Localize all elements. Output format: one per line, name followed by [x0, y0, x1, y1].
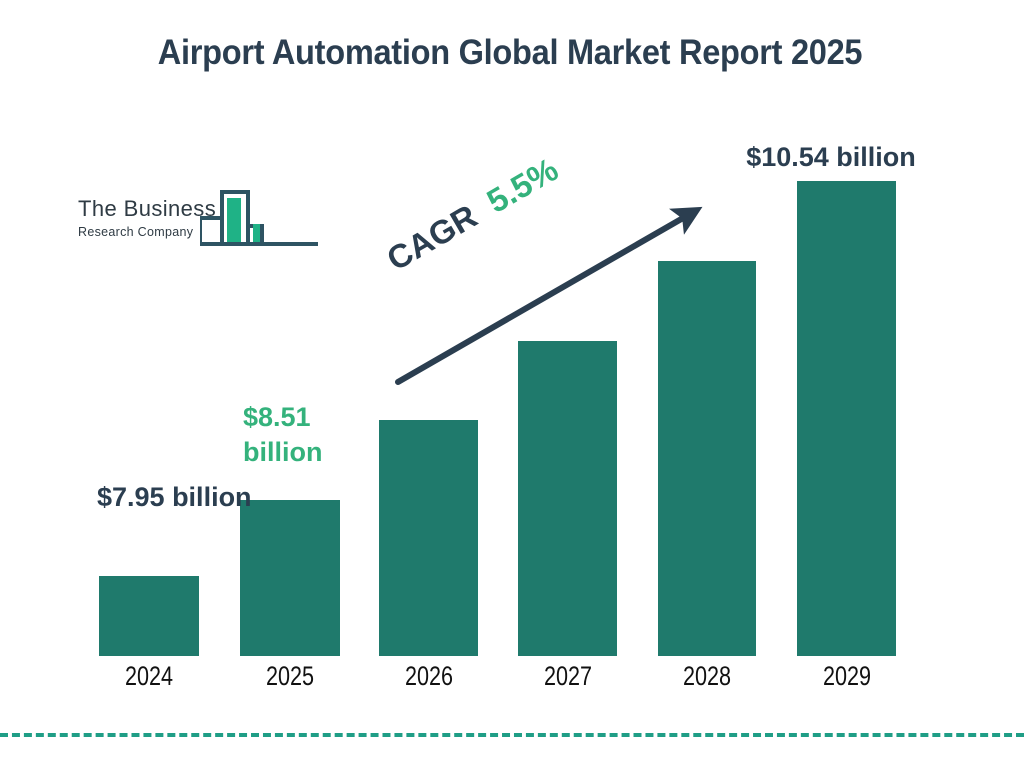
footer-divider [0, 733, 1024, 737]
chart-canvas: Airport Automation Global Market Report … [0, 0, 1024, 768]
bar-2025 [240, 500, 340, 656]
x-axis-label-2028: 2028 [659, 663, 755, 690]
bar-chart-skyline-icon [200, 176, 360, 256]
x-axis-label-2029: 2029 [799, 663, 895, 690]
x-axis-label-2027: 2027 [520, 663, 616, 690]
x-axis-label-2024: 2024 [101, 663, 197, 690]
value-label-2024: $7.95 billion [97, 480, 257, 515]
page-title: Airport Automation Global Market Report … [119, 30, 900, 76]
x-axis-label-2026: 2026 [381, 663, 477, 690]
brand-logo-line2: Research Company [78, 226, 216, 239]
bar-2026 [379, 420, 478, 656]
bar-2024 [99, 576, 199, 656]
brand-logo-text: The Business Research Company [78, 198, 216, 239]
value-label-2029: $10.54 billion [686, 140, 976, 175]
value-label-2025: $8.51 billion [243, 400, 393, 470]
brand-logo: The Business Research Company [78, 192, 288, 254]
bar-2029 [797, 181, 896, 656]
x-axis-label-2025: 2025 [242, 663, 338, 690]
brand-logo-line1: The Business [78, 198, 216, 220]
